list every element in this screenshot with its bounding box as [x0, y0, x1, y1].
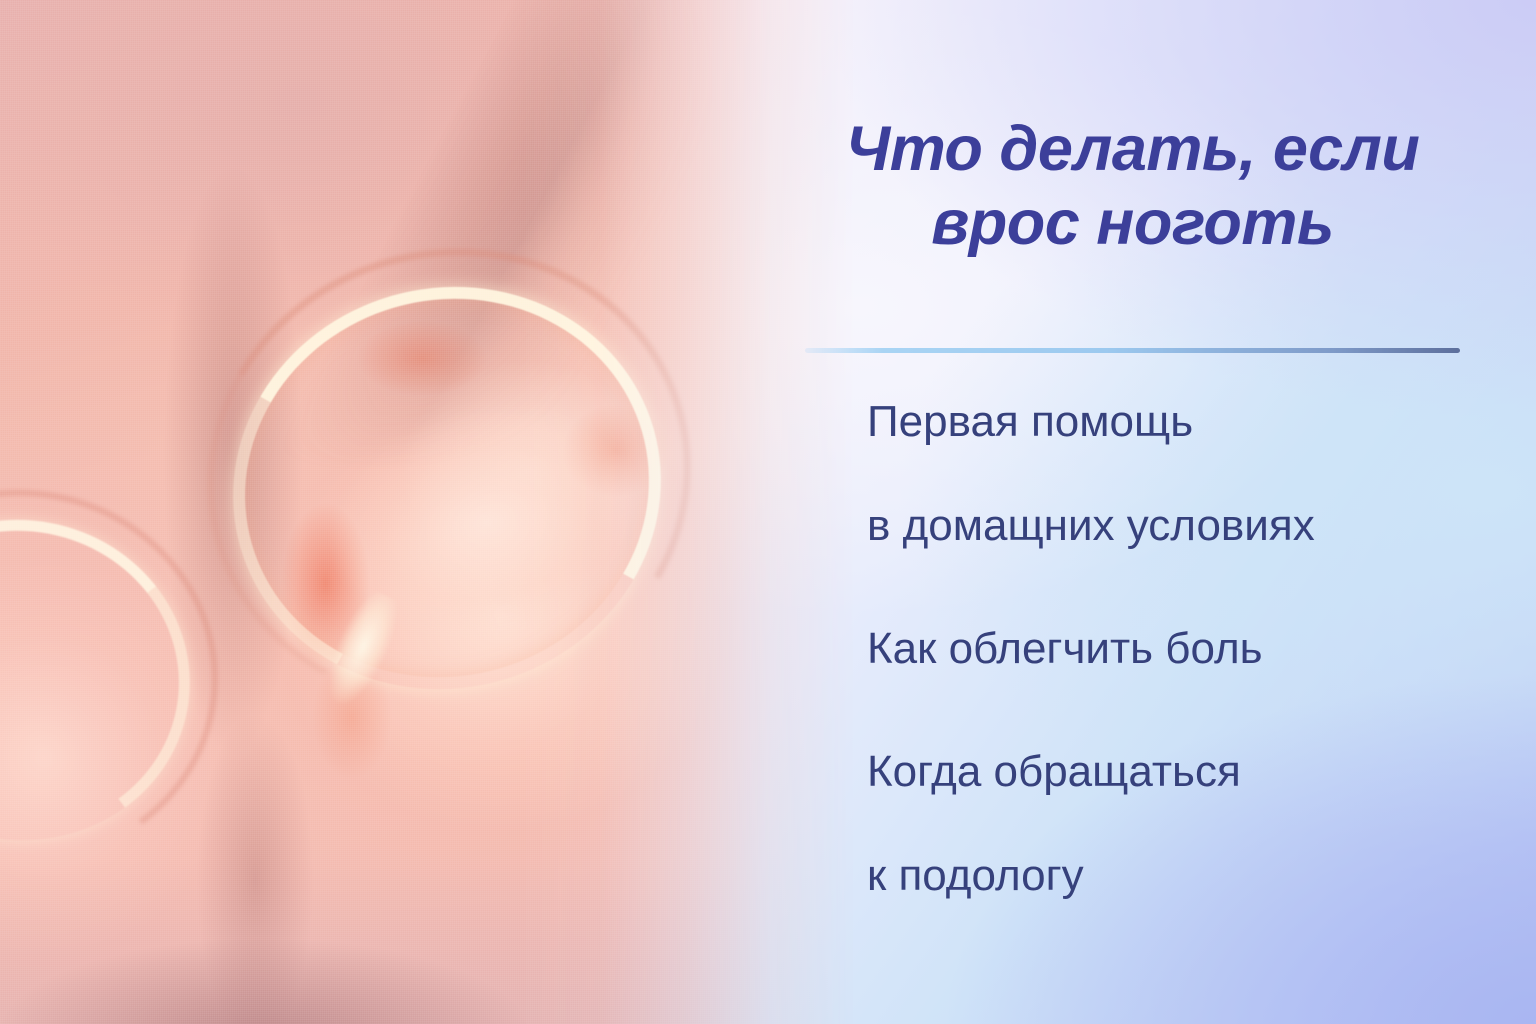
bullet-item-2: Как облегчить боль	[867, 627, 1467, 671]
bullet-1-inner-gap	[867, 444, 1467, 504]
bullet-3-line-2: к подологу	[867, 854, 1467, 898]
bullet-item-3: Когда обращаться к подологу	[867, 750, 1467, 898]
bullet-1-line-2: в домащних условиях	[867, 504, 1467, 548]
text-panel: Что делать, если врос ноготь Первая помо…	[805, 0, 1460, 1024]
title-divider-rule	[805, 348, 1460, 353]
photo-grain-texture	[0, 0, 880, 1024]
title-line-1: Что делать, если	[805, 112, 1460, 186]
bullet-1-line-1: Первая помощь	[867, 400, 1467, 444]
bullet-list: Первая помощь в домащних условиях Как об…	[867, 400, 1467, 898]
poster-canvas: Что делать, если врос ноготь Первая помо…	[0, 0, 1536, 1024]
bullet-gap-2-3	[867, 671, 1467, 750]
bullet-gap-1-2	[867, 548, 1467, 627]
bullet-3-inner-gap	[867, 794, 1467, 854]
bullet-item-1: Первая помощь в домащних условиях	[867, 400, 1467, 548]
bullet-3-line-1: Когда обращаться	[867, 750, 1467, 794]
bullet-2-line-1: Как облегчить боль	[867, 627, 1467, 671]
title-line-2: врос ноготь	[805, 186, 1460, 260]
poster-title: Что делать, если врос ноготь	[805, 112, 1460, 261]
ingrown-toenail-photo	[0, 0, 880, 1024]
